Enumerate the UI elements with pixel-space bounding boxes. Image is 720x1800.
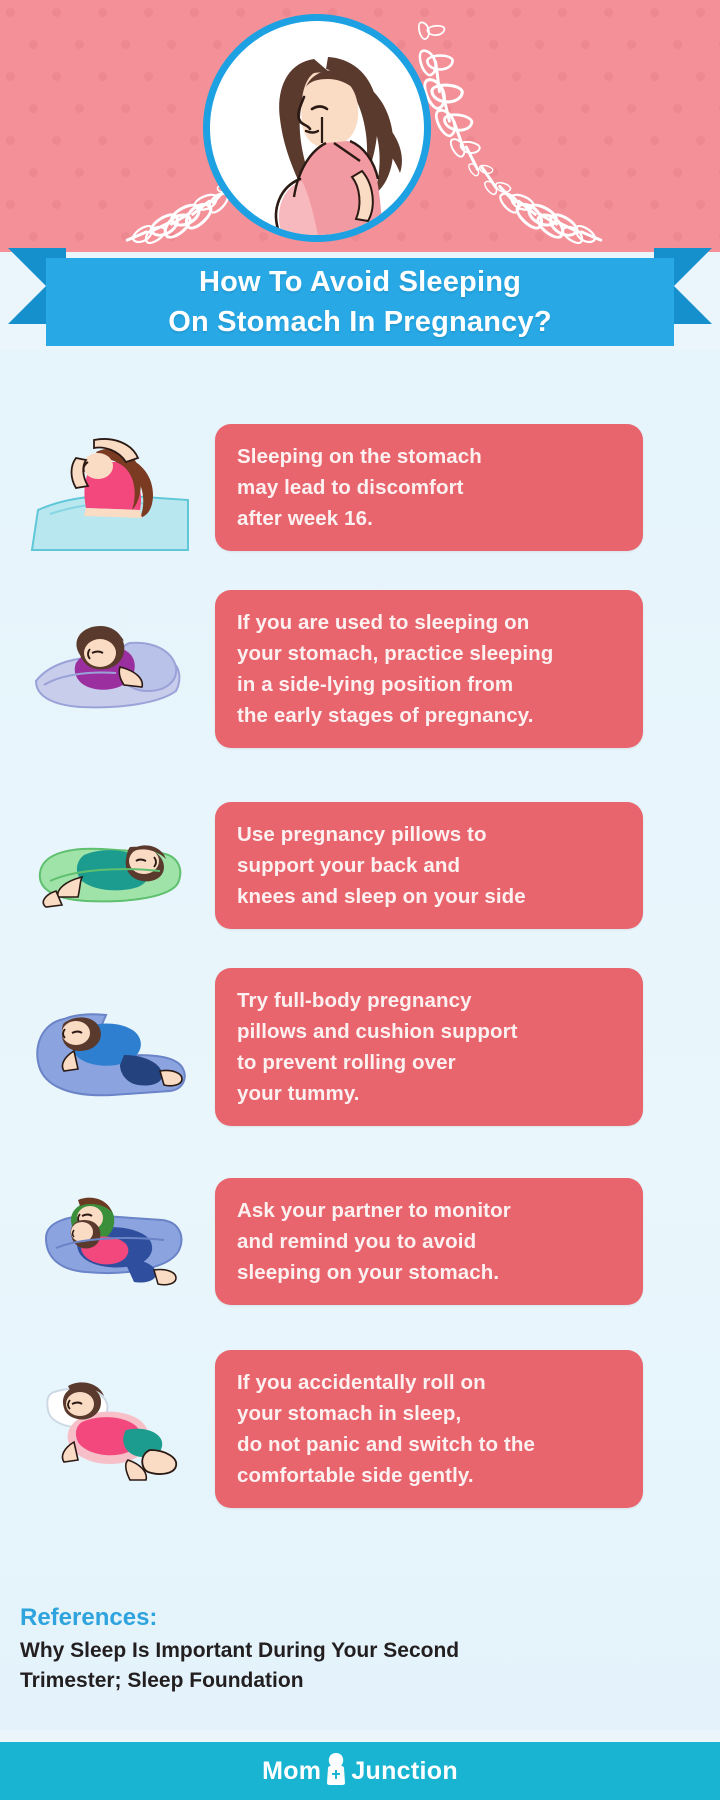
woman-side-sleeping-on-pillow-icon [0,609,215,729]
tip-line: your tummy. [237,1078,621,1109]
tip-line: Sleeping on the stomach [237,441,621,472]
momjunction-logo[interactable]: Mom Junction [262,1754,458,1788]
woman-rolling-onto-stomach-icon [0,1364,215,1494]
references-body: Why Sleep Is Important During Your Secon… [20,1636,700,1696]
hero-illustration-circle [203,14,431,242]
list-item: Sleeping on the stomach may lead to disc… [0,422,720,552]
infographic-page: How To Avoid Sleeping On Stomach In Preg… [0,0,720,1800]
couple-sleeping-together-icon [0,1182,215,1302]
tip-line: comfortable side gently. [237,1460,621,1491]
tip-card: Ask your partner to monitor and remind y… [215,1178,643,1305]
tip-line: and remind you to avoid [237,1226,621,1257]
tip-line: after week 16. [237,503,621,534]
ribbon-body: How To Avoid Sleeping On Stomach In Preg… [46,258,674,346]
brand-name-first: Mom [262,1757,321,1786]
tip-line: your stomach, practice sleeping [237,638,621,669]
tip-line: Use pregnancy pillows to [237,819,621,850]
reference-line: Why Sleep Is Important During Your Secon… [20,1636,700,1666]
tip-card: Try full-body pregnancy pillows and cush… [215,968,643,1126]
page-title-line-2: On Stomach In Pregnancy? [168,302,552,342]
tip-line: may lead to discomfort [237,472,621,503]
tips-list: Sleeping on the stomach may lead to disc… [0,350,720,1730]
header-banner [0,0,720,252]
brand-name-second: Junction [351,1757,458,1786]
tip-card: Use pregnancy pillows to support your ba… [215,802,643,929]
tip-line: sleeping on your stomach. [237,1257,621,1288]
tip-line: pillows and cushion support [237,1016,621,1047]
tip-line: Ask your partner to monitor [237,1195,621,1226]
tip-card: If you are used to sleeping on your stom… [215,590,643,748]
title-ribbon: How To Avoid Sleeping On Stomach In Preg… [0,238,720,350]
woman-sleeping-on-stomach-icon [0,422,215,552]
pregnant-woman-illustration [210,21,424,235]
tip-line: do not panic and switch to the [237,1429,621,1460]
references-section: References: Why Sleep Is Important Durin… [20,1602,700,1696]
page-title-line-1: How To Avoid Sleeping [199,262,521,302]
list-item: Ask your partner to monitor and remind y… [0,1178,720,1305]
list-item: Use pregnancy pillows to support your ba… [0,802,720,929]
list-item: If you accidentally roll on your stomach… [0,1350,720,1508]
footer-bar: Mom Junction [0,1742,720,1800]
tip-line: If you are used to sleeping on [237,607,621,638]
list-item: If you are used to sleeping on your stom… [0,590,720,748]
woman-with-full-body-pillow-icon [0,985,215,1110]
reference-line: Trimester; Sleep Foundation [20,1666,700,1696]
list-item: Try full-body pregnancy pillows and cush… [0,968,720,1126]
tip-line: the early stages of pregnancy. [237,700,621,731]
tip-line: your stomach in sleep, [237,1398,621,1429]
tip-line: in a side-lying position from [237,669,621,700]
tip-line: If you accidentally roll on [237,1367,621,1398]
tip-line: support your back and [237,850,621,881]
tip-line: Try full-body pregnancy [237,985,621,1016]
references-heading: References: [20,1602,700,1634]
tip-card: Sleeping on the stomach may lead to disc… [215,424,643,551]
woman-with-green-pregnancy-pillow-icon [0,811,215,921]
tip-line: to prevent rolling over [237,1047,621,1078]
tip-line: knees and sleep on your side [237,881,621,912]
mom-and-baby-logo-icon [323,1752,349,1786]
tip-card: If you accidentally roll on your stomach… [215,1350,643,1508]
